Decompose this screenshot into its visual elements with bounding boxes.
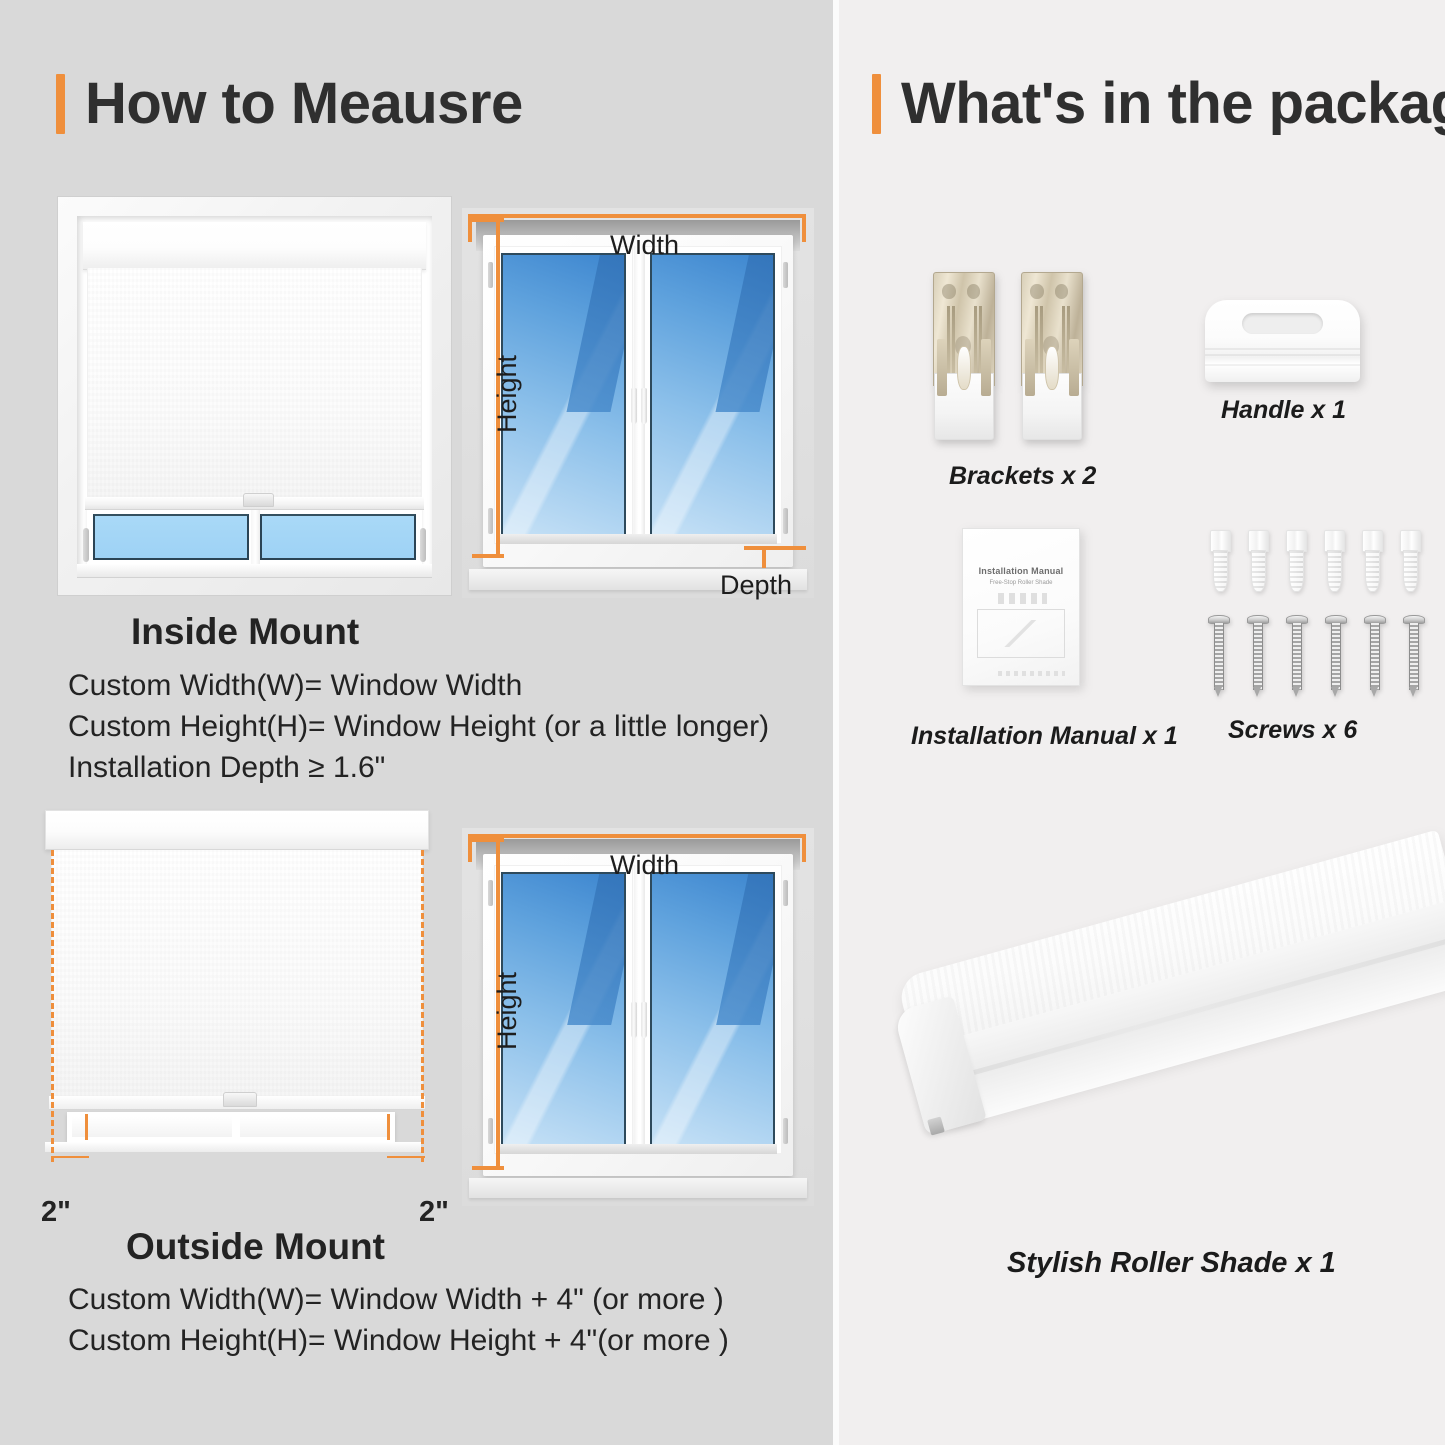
bracket-icon-2 — [1021, 272, 1083, 440]
shade-fabric — [87, 268, 423, 498]
bracket-tab-right — [981, 339, 991, 396]
height-label: Height — [492, 355, 523, 433]
bracket-tab-right-2 — [1069, 339, 1079, 396]
screws-label: Screws x 6 — [1228, 716, 1357, 745]
window-hinge-tl-icon — [488, 262, 493, 288]
window-glass-row — [93, 514, 417, 560]
height-measure-cap-top — [472, 218, 504, 222]
bracket-center-hole-2 — [1045, 346, 1060, 390]
right-panel-heading: What's in the package — [872, 70, 1445, 137]
handle-label: Handle x 1 — [1221, 396, 1346, 425]
screw-icon-group — [1208, 615, 1425, 697]
anchor-head-5 — [1362, 530, 1383, 552]
overhang-arrow-right — [387, 1156, 425, 1158]
outside-mount-illustration — [37, 810, 437, 1210]
shade-pull-handle-icon — [243, 493, 275, 507]
wall-anchor-icon-2 — [1248, 530, 1269, 592]
bracket-icon-1 — [933, 272, 995, 440]
inside-mount-illustration — [57, 196, 452, 596]
accent-bar-icon-right — [872, 74, 881, 134]
bracket-icon-group — [933, 272, 1083, 440]
screw-tip-4 — [1331, 687, 1339, 697]
accent-bar-icon — [56, 74, 65, 134]
window-handle-left-icon — [631, 388, 637, 424]
manual-icon: Installation Manual Free-Stop Roller Sha… — [962, 528, 1080, 686]
window-frame-split-outside — [232, 1112, 240, 1142]
window-ledge-2 — [469, 1178, 807, 1199]
inside-mount-line-1: Custom Width(W)= Window Width — [68, 668, 769, 704]
overhang-label-left: 2" — [41, 1196, 71, 1229]
manual-label: Installation Manual x 1 — [911, 722, 1178, 751]
shade-headrail — [83, 222, 427, 270]
screw-icon-1 — [1208, 615, 1230, 697]
wall-anchor-icon-6 — [1400, 530, 1421, 592]
wall-anchor-icon-1 — [1210, 530, 1231, 592]
inside-mount-line-3: Installation Depth ≥ 1.6" — [68, 750, 769, 786]
window-hinge-tr-icon-2 — [783, 880, 788, 906]
screw-icon-3 — [1286, 615, 1308, 697]
handle-grip-slot — [1242, 313, 1323, 334]
window-hinge-tl-icon-2 — [488, 880, 493, 906]
screw-shaft-4 — [1331, 623, 1341, 690]
anchor-head-4 — [1324, 530, 1345, 552]
bracket-tab-left — [937, 339, 947, 396]
manual-cover-subtitle: Free-Stop Roller Shade — [972, 580, 1069, 586]
outside-mount-line-2: Custom Height(H)= Window Height + 4"(or … — [68, 1323, 729, 1359]
width-label-2: Width — [610, 850, 679, 881]
glass-pane-left — [93, 514, 249, 560]
window-measure-diagram-inside: Width Height Depth — [462, 208, 814, 598]
inside-mount-title: Inside Mount — [131, 611, 359, 653]
screw-tip-5 — [1370, 687, 1378, 697]
screw-icon-4 — [1325, 615, 1347, 697]
height-label-2: Height — [492, 972, 523, 1050]
window-hinge-br-icon — [783, 508, 788, 534]
handle-ridge-1 — [1205, 348, 1360, 350]
window-pane-right-2 — [643, 865, 782, 1154]
window-latch-left-icon — [83, 528, 89, 562]
window-handle-left-icon-2 — [631, 1002, 637, 1037]
screw-icon-6 — [1403, 615, 1425, 697]
handle-icon — [1205, 300, 1360, 382]
wall-anchor-icon-3 — [1286, 530, 1307, 592]
screw-tip-2 — [1253, 687, 1261, 697]
window-sash-bottom-bar — [499, 534, 778, 545]
anchor-head-2 — [1248, 530, 1269, 552]
height-measure-cap-bottom-2 — [472, 1166, 504, 1170]
window-latch-right-icon — [420, 528, 426, 562]
width-measure-line — [468, 214, 806, 218]
screw-shaft-1 — [1214, 623, 1224, 690]
manual-cover-footer — [998, 671, 1065, 676]
manual-cover-title: Installation Manual — [972, 566, 1069, 576]
depth-measure-line — [744, 546, 806, 550]
anchor-body-6 — [1403, 550, 1418, 592]
depth-measure-cap — [762, 546, 766, 568]
window-hinge-bl-icon — [488, 508, 493, 534]
window-frame-2 — [483, 854, 793, 1175]
window-sash-bottom-bar-2 — [499, 1144, 778, 1154]
screw-tip-1 — [1214, 687, 1222, 697]
anchor-head-6 — [1400, 530, 1421, 552]
screw-shaft-6 — [1409, 623, 1419, 690]
wall-anchor-icon-group — [1210, 530, 1421, 592]
depth-label: Depth — [720, 570, 792, 601]
width-measure-cap-right-2 — [802, 834, 806, 862]
anchor-head-3 — [1286, 530, 1307, 552]
window-frame — [483, 235, 793, 567]
bracket-center-hole — [957, 346, 972, 390]
outside-mount-description: Custom Width(W)= Window Width + 4" (or m… — [68, 1282, 729, 1364]
height-measure-cap-top-2 — [472, 838, 504, 842]
window-handle-right-icon — [641, 388, 647, 424]
inside-mount-description: Custom Width(W)= Window Width Custom Hei… — [68, 668, 769, 791]
overhang-arrow-left — [51, 1156, 89, 1158]
shade-headrail-outside — [45, 810, 429, 850]
manual-cover-scribble — [998, 593, 1047, 604]
overhang-guide-right — [421, 850, 424, 1162]
handle-ridge-2 — [1205, 354, 1360, 356]
outside-mount-line-1: Custom Width(W)= Window Width + 4" (or m… — [68, 1282, 729, 1318]
overhang-tick-left — [85, 1114, 88, 1140]
inside-mount-line-2: Custom Height(H)= Window Height (or a li… — [68, 709, 769, 745]
window-handles — [628, 388, 650, 424]
outside-mount-title: Outside Mount — [126, 1226, 385, 1268]
width-measure-cap-right — [802, 214, 806, 242]
glass-right-2 — [650, 872, 775, 1147]
window-sill — [77, 564, 433, 578]
anchor-body-5 — [1365, 550, 1380, 592]
anchor-body-1 — [1213, 550, 1228, 592]
window-hinge-br-icon-2 — [783, 1118, 788, 1144]
roller-shade-icon — [905, 885, 1445, 1215]
wall-anchor-icon-5 — [1362, 530, 1383, 592]
infographic-page: How to Meausre — [0, 0, 1445, 1445]
screw-icon-2 — [1247, 615, 1269, 697]
window-handles-2 — [628, 1002, 650, 1037]
left-panel-heading: How to Meausre — [56, 70, 523, 137]
anchor-body-2 — [1251, 550, 1266, 592]
screw-tip-6 — [1409, 687, 1417, 697]
right-heading-text: What's in the package — [901, 70, 1445, 137]
shade-pull-handle-outside-icon — [223, 1092, 257, 1106]
window-base-outside — [45, 1142, 421, 1152]
window-hinge-bl-icon-2 — [488, 1118, 493, 1144]
bracket-tab-left-2 — [1025, 339, 1035, 396]
handle-ridge-3 — [1205, 364, 1360, 366]
screw-tip-3 — [1292, 687, 1300, 697]
height-measure-cap-bottom — [472, 554, 504, 558]
width-label: Width — [610, 230, 679, 261]
screw-shaft-2 — [1253, 623, 1263, 690]
overhang-tick-right — [387, 1114, 390, 1140]
manual-cover-figure — [977, 609, 1065, 659]
screw-icon-5 — [1364, 615, 1386, 697]
window-pane-right — [643, 246, 782, 544]
brackets-label: Brackets x 2 — [949, 462, 1096, 491]
overhang-label-right: 2" — [419, 1196, 449, 1229]
roller-shade-label: Stylish Roller Shade x 1 — [1007, 1247, 1336, 1280]
anchor-head-1 — [1210, 530, 1231, 552]
glass-pane-right — [260, 514, 416, 560]
shade-fabric-outside — [51, 850, 423, 1098]
left-heading-text: How to Meausre — [85, 70, 523, 137]
window-measure-diagram-outside: Width Height — [462, 828, 814, 1206]
window-handle-right-icon-2 — [641, 1002, 647, 1037]
screw-shaft-5 — [1370, 623, 1380, 690]
screw-shaft-3 — [1292, 623, 1302, 690]
width-measure-line-2 — [468, 834, 806, 838]
wall-anchor-icon-4 — [1324, 530, 1345, 592]
window-hinge-tr-icon — [783, 262, 788, 288]
overhang-guide-left — [51, 850, 54, 1162]
anchor-body-4 — [1327, 550, 1342, 592]
glass-right — [650, 253, 775, 537]
anchor-body-3 — [1289, 550, 1304, 592]
